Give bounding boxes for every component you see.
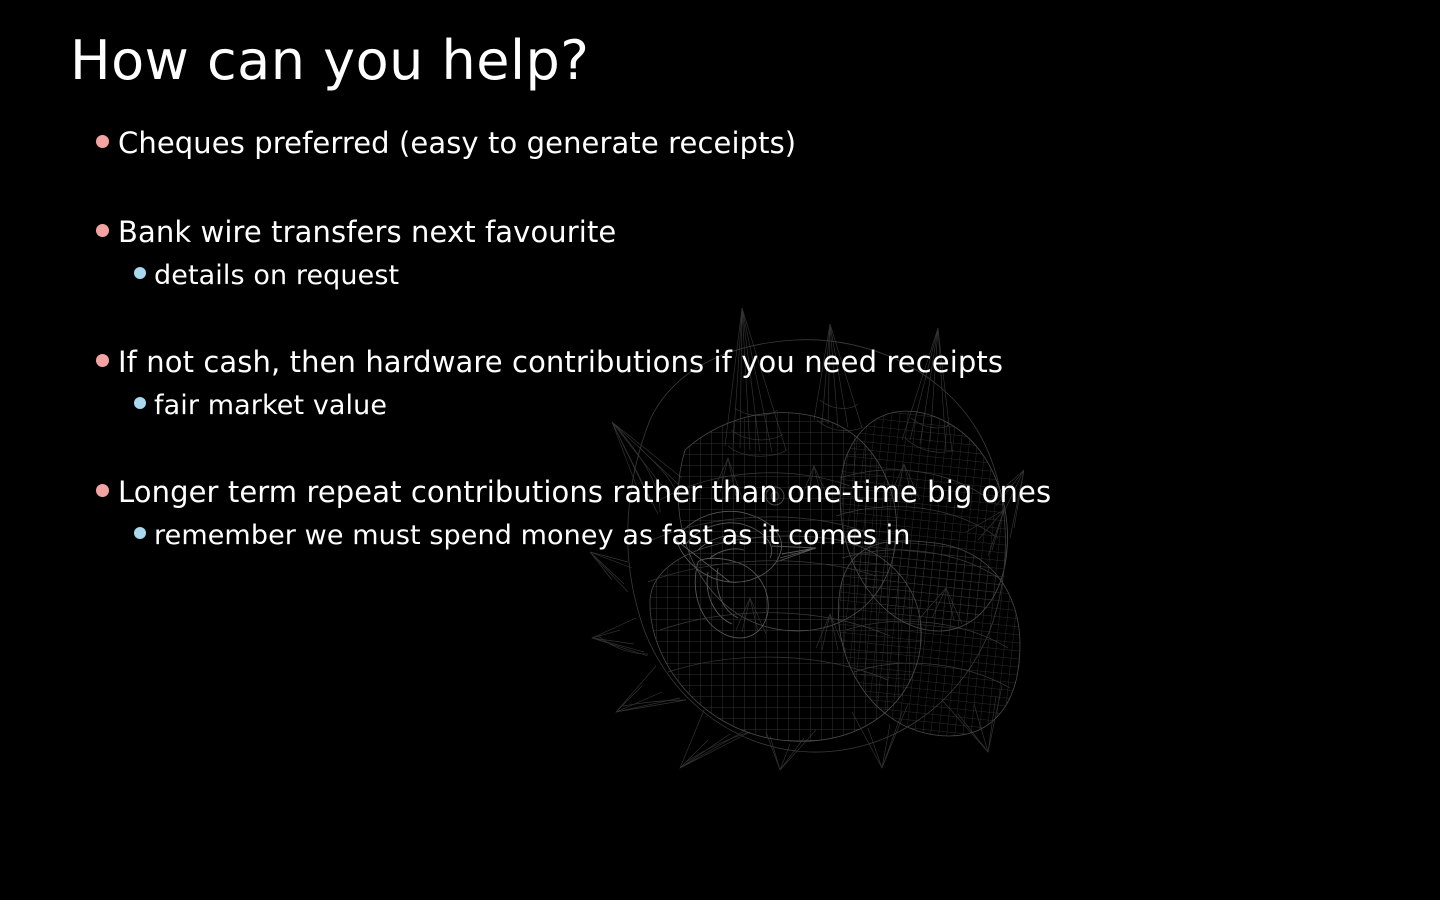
presentation-slide: How can you help? Cheques preferred (eas… <box>0 0 1440 900</box>
bullet-text: Bank wire transfers next favourite <box>118 215 616 249</box>
bullet-subtext: fair market value <box>154 390 387 422</box>
bullet-subtext: remember we must spend money as fast as … <box>154 520 910 552</box>
bullet-group: Bank wire transfers next favourite detai… <box>0 215 1440 301</box>
bullet-item-level1: Cheques preferred (easy to generate rece… <box>0 126 1440 171</box>
bullet-group: Longer term repeat contributions rather … <box>0 475 1440 561</box>
bullet-dot-level1-icon <box>96 135 109 148</box>
bullet-text: Cheques preferred (easy to generate rece… <box>118 126 796 160</box>
bullet-item-level2: fair market value <box>0 390 1440 431</box>
bullet-dot-level1-icon <box>96 354 109 367</box>
bullet-group: If not cash, then hardware contributions… <box>0 345 1440 431</box>
bullet-item-level2: remember we must spend money as fast as … <box>0 520 1440 561</box>
slide-body: Cheques preferred (easy to generate rece… <box>0 126 1440 561</box>
bullet-item-level1: Longer term repeat contributions rather … <box>0 475 1440 520</box>
bullet-text: Longer term repeat contributions rather … <box>118 475 1051 509</box>
bullet-subtext: details on request <box>154 260 399 292</box>
bullet-dot-level1-icon <box>96 484 109 497</box>
bullet-item-level2: details on request <box>0 260 1440 301</box>
bullet-dot-level2-icon <box>134 397 146 409</box>
bullet-item-level1: Bank wire transfers next favourite <box>0 215 1440 260</box>
bullet-text: If not cash, then hardware contributions… <box>118 345 1003 379</box>
bullet-dot-level2-icon <box>134 267 146 279</box>
bullet-dot-level2-icon <box>134 527 146 539</box>
bullet-dot-level1-icon <box>96 224 109 237</box>
slide-title: How can you help? <box>70 30 589 92</box>
bullet-item-level1: If not cash, then hardware contributions… <box>0 345 1440 390</box>
bullet-group: Cheques preferred (easy to generate rece… <box>0 126 1440 171</box>
